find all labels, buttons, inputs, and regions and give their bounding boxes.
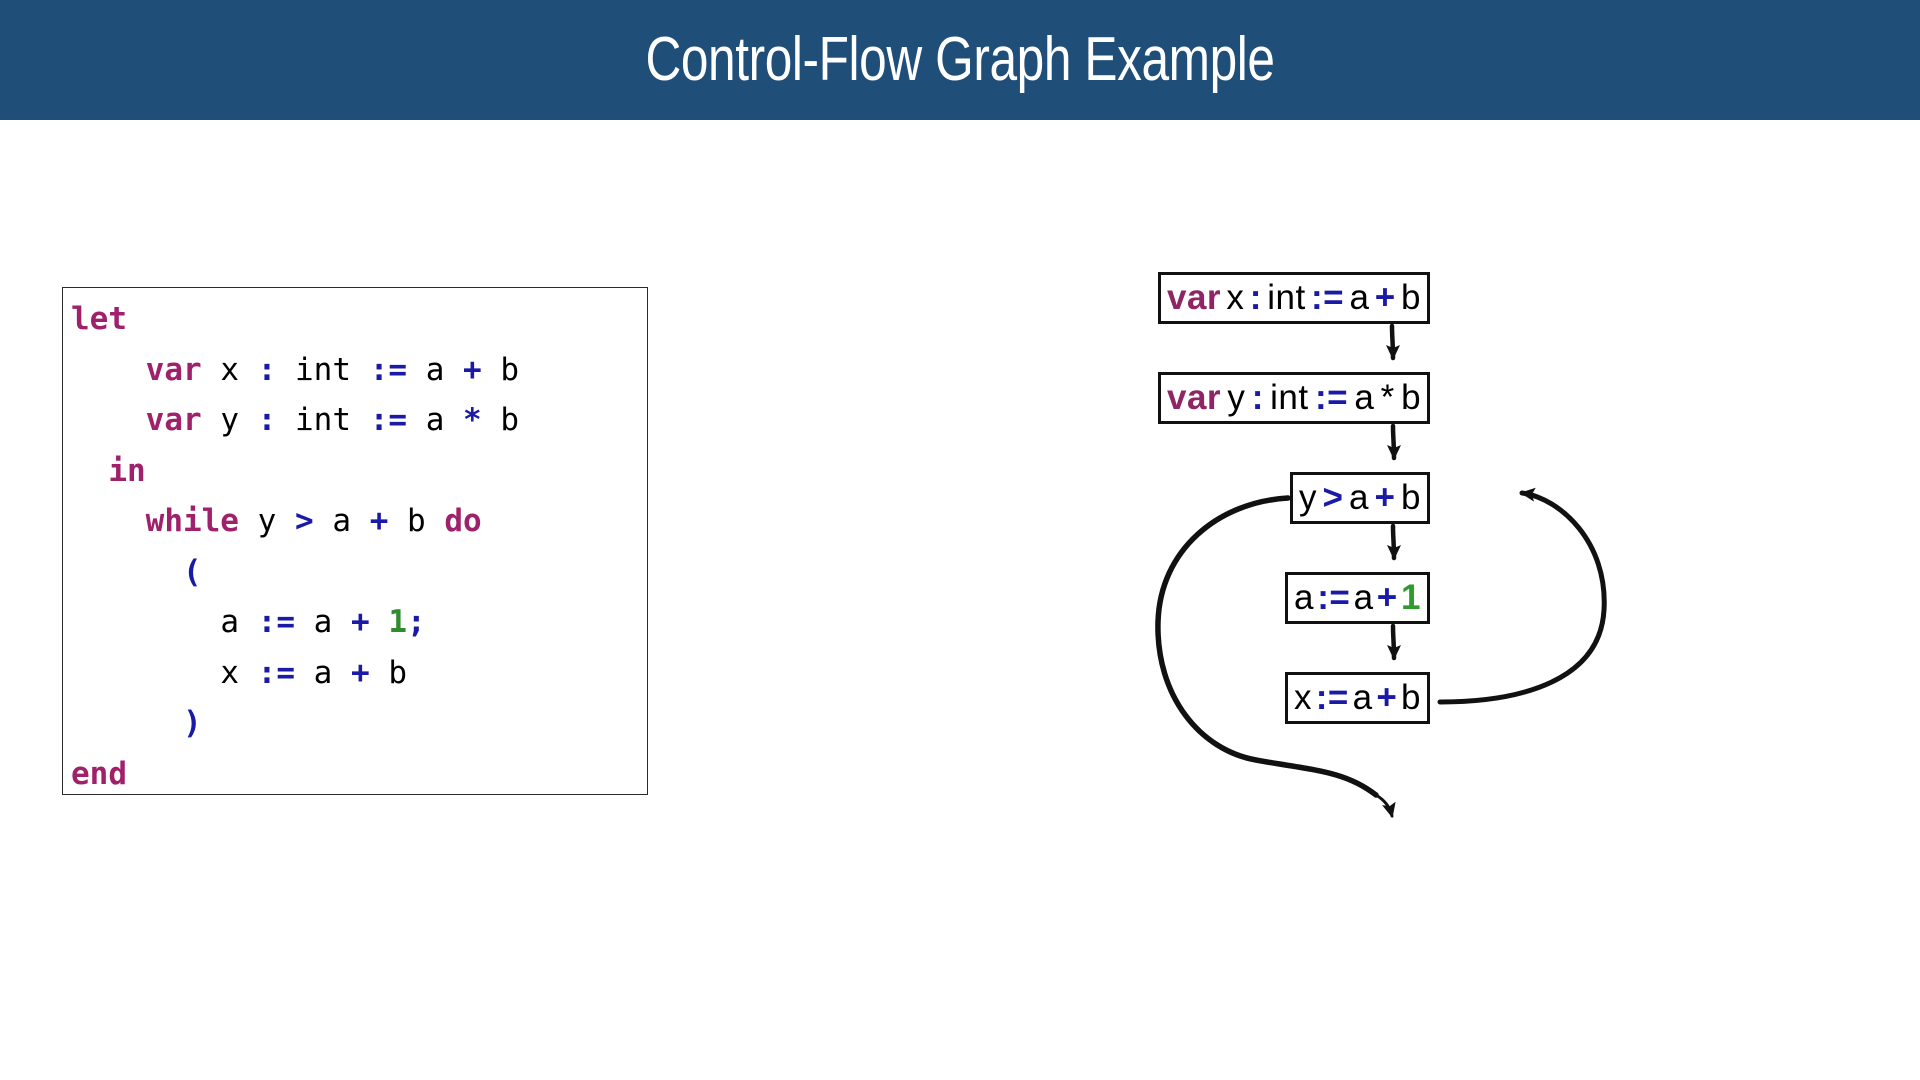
cfg-node-token-op: +	[1375, 478, 1396, 518]
code-token-op: :	[258, 352, 277, 388]
cfg-node-token-id: a	[1354, 578, 1374, 618]
cfg-node-token-id: b	[1401, 678, 1421, 718]
cfg-edge-n4-n2-back	[1440, 493, 1604, 702]
cfg-edge-n2-exit	[1158, 498, 1392, 816]
cfg-node-token-id: b	[1401, 278, 1421, 318]
cfg-node-token-id: a	[1354, 378, 1374, 418]
code-token-op: +	[351, 655, 370, 691]
cfg-node-token-num: 1	[1401, 578, 1421, 618]
code-token-op: :=	[370, 402, 407, 438]
cfg-node-token-op: :	[1250, 278, 1262, 318]
code-token-id: x	[220, 352, 239, 388]
cfg-node-token-kw: var	[1167, 378, 1221, 418]
source-code-listing: let var x : int := a + b var y : int := …	[71, 294, 519, 799]
code-token-id: b	[388, 655, 407, 691]
code-token-kw: in	[108, 453, 145, 489]
cfg-node-token-id: y	[1299, 478, 1317, 518]
code-token-op: +	[351, 604, 370, 640]
code-token-kw: var	[146, 352, 202, 388]
slide-header-band: Control-Flow Graph Example	[0, 0, 1920, 120]
code-token-kw: var	[146, 402, 202, 438]
cfg-edge-n1-n2	[1393, 426, 1394, 458]
code-token-op: :=	[258, 655, 295, 691]
code-token-id: a	[220, 604, 239, 640]
code-token-op: *	[463, 402, 482, 438]
cfg-node-token-op: :=	[1315, 378, 1348, 418]
cfg-node-var-y[interactable]: vary:int:=a*b	[1158, 372, 1430, 424]
page-title: Control-Flow Graph Example	[192, 0, 1728, 120]
code-token-id: b	[407, 503, 426, 539]
code-token-id: b	[500, 352, 519, 388]
code-token-id: x	[220, 655, 239, 691]
cfg-node-token-op: :=	[1317, 578, 1350, 618]
cfg-node-token-id: b	[1401, 378, 1421, 418]
code-token-kw: end	[71, 756, 127, 792]
cfg-node-token-op: :	[1252, 378, 1264, 418]
code-token-op: +	[370, 503, 389, 539]
cfg-node-token-id: int	[1267, 278, 1305, 318]
code-token-id: a	[314, 655, 333, 691]
cfg-edge-n2-n3	[1393, 526, 1394, 558]
cfg-node-token-id: *	[1381, 378, 1395, 418]
cfg-node-increment-a[interactable]: a:=a+1	[1285, 572, 1430, 624]
code-token-op: >	[295, 503, 314, 539]
code-token-op: ;	[407, 604, 426, 640]
code-token-id: b	[500, 402, 519, 438]
cfg-node-token-op: :=	[1311, 278, 1344, 318]
code-token-kw: do	[444, 503, 481, 539]
cfg-node-token-id: a	[1294, 578, 1314, 618]
cfg-node-token-op: +	[1375, 278, 1396, 318]
cfg-node-token-id: b	[1401, 478, 1421, 518]
cfg-node-token-id: x	[1294, 678, 1312, 718]
cfg-node-condition[interactable]: y>a+b	[1290, 472, 1430, 524]
cfg-node-token-op: :=	[1316, 678, 1349, 718]
code-token-num: 1	[388, 604, 407, 640]
cfg-edge-n3-n4	[1393, 626, 1394, 658]
code-token-kw: let	[71, 301, 127, 337]
cfg-node-token-id: a	[1349, 478, 1369, 518]
cfg-edges-svg	[1130, 250, 1730, 950]
cfg-node-token-id: y	[1227, 378, 1245, 418]
cfg-node-token-op: >	[1323, 478, 1344, 518]
cfg-node-token-op: +	[1377, 578, 1398, 618]
code-token-kw: while	[146, 503, 239, 539]
control-flow-graph: varx:int:=a+b vary:int:=a*b y>a+b a:=a+1…	[1130, 250, 1730, 950]
code-token-op: :=	[258, 604, 295, 640]
code-token-op: :=	[370, 352, 407, 388]
code-token-op: )	[183, 705, 202, 741]
cfg-edge-n0-n1	[1392, 326, 1393, 358]
code-token-id: y	[220, 402, 239, 438]
cfg-node-var-x[interactable]: varx:int:=a+b	[1158, 272, 1430, 324]
code-token-op: (	[183, 554, 202, 590]
code-token-id: int	[295, 352, 351, 388]
code-token-op: +	[463, 352, 482, 388]
cfg-node-token-id: a	[1349, 278, 1369, 318]
cfg-node-token-id: x	[1226, 278, 1244, 318]
source-code-panel: let var x : int := a + b var y : int := …	[62, 287, 648, 795]
cfg-node-token-op: +	[1376, 678, 1397, 718]
code-token-id: a	[426, 352, 445, 388]
code-token-id: a	[314, 604, 333, 640]
code-token-id: int	[295, 402, 351, 438]
code-token-op: :	[258, 402, 277, 438]
cfg-node-token-id: int	[1270, 378, 1308, 418]
code-token-id: y	[258, 503, 277, 539]
cfg-node-token-id: a	[1353, 678, 1373, 718]
code-token-id: a	[332, 503, 351, 539]
cfg-node-token-kw: var	[1167, 278, 1221, 318]
code-token-id: a	[426, 402, 445, 438]
cfg-node-assign-x[interactable]: x:=a+b	[1285, 672, 1430, 724]
